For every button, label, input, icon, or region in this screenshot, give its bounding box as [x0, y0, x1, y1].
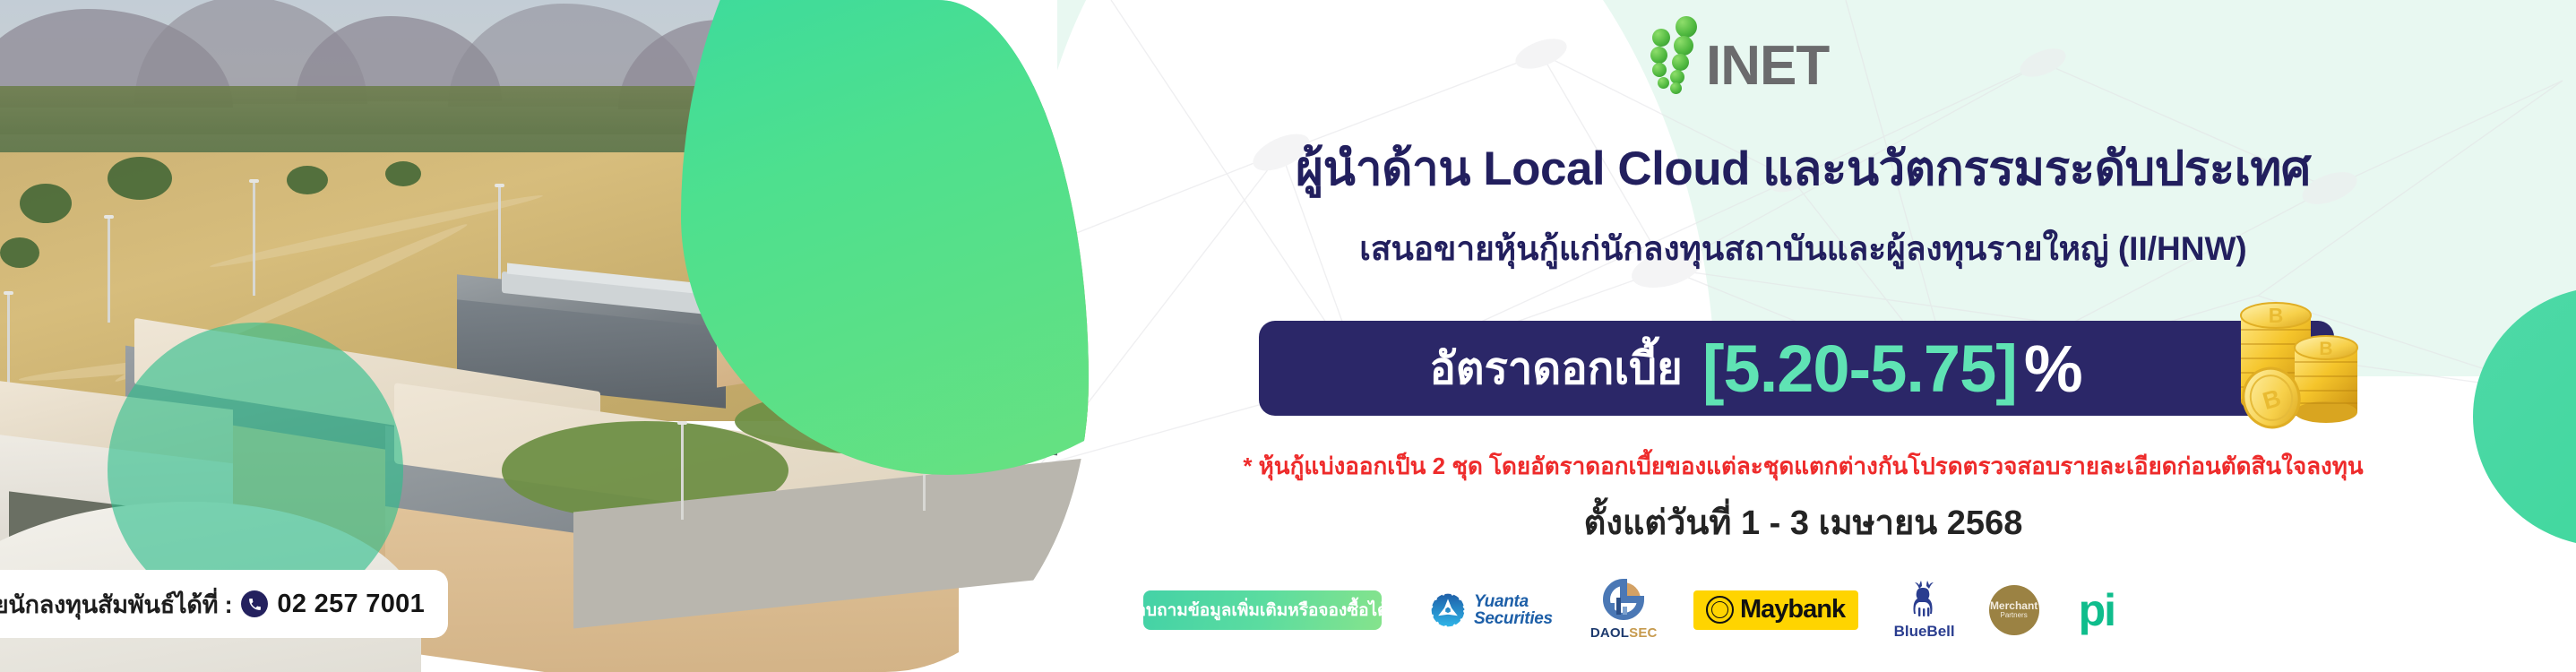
partner-logo-bluebell[interactable]: BlueBell — [1894, 580, 1955, 641]
interest-rate-value: [5.20-5.75] — [1702, 331, 2017, 407]
interest-rate-percent-sign: % — [2024, 331, 2083, 407]
merchant-line1: Merchant — [1990, 600, 2038, 612]
bluebell-wordmark: BlueBell — [1894, 623, 1955, 641]
contact-phone-number: 02 257 7001 — [277, 590, 425, 619]
maybank-tiger-icon — [1706, 596, 1734, 624]
partner-logo-maybank[interactable]: Maybank — [1693, 590, 1858, 630]
page-title: ผู้นำด้าน Local Cloud และนวัตกรรมระดับปร… — [1030, 131, 2576, 206]
yuanta-line1: Yuanta — [1474, 593, 1553, 610]
investor-relations-contact-bar[interactable]: ติดต่อฝ่ายนักลงทุนสัมพันธ์ได้ที่ : 02 25… — [0, 570, 448, 638]
bluebell-deer-icon — [1905, 580, 1944, 617]
photo-tree — [385, 161, 421, 186]
svg-text:B: B — [2319, 339, 2332, 359]
daol-pie-chart-icon — [1602, 579, 1645, 620]
yuanta-line2: Securities — [1474, 610, 1553, 627]
cta-label: สอบถามข้อมูลเพิ่มเติมหรือจองซื้อได้ที่ — [1125, 597, 1400, 624]
pi-wordmark: pi — [2079, 592, 2115, 628]
daol-line2: SEC — [1629, 625, 1657, 641]
disclaimer-text: * หุ้นกู้แบ่งออกเป็น 2 ชุด โดยอัตราดอกเบ… — [1030, 448, 2576, 485]
inet-bond-offering-banner: ติดต่อฝ่ายนักลงทุนสัมพันธ์ได้ที่ : 02 25… — [0, 0, 2576, 672]
svg-text:B: B — [2269, 304, 2284, 327]
maybank-wordmark: Maybank — [1740, 595, 1845, 625]
partner-logo-yuanta[interactable]: Yuanta Securities — [1430, 592, 1553, 628]
page-subtitle: เสนอขายหุ้นกู้แก่นักลงทุนสถาบันและผู้ลงท… — [1030, 222, 2576, 275]
partner-logo-daol-sec[interactable]: DAOLSEC — [1590, 579, 1658, 641]
gold-coin-stack-icon: B B B — [2225, 289, 2386, 441]
photo-pole — [108, 215, 110, 323]
photo-tree — [20, 184, 72, 223]
photo-pole — [498, 184, 501, 282]
partner-logo-row: สอบถามข้อมูลเพิ่มเติมหรือจองซื้อได้ที่ — [1143, 579, 2115, 641]
photo-lightpole — [681, 421, 684, 520]
content-column: INET ผู้นำด้าน Local Cloud และนวัตกรรมระ… — [1030, 0, 2576, 672]
interest-rate-label: อัตราดอกเบี้ย — [1429, 333, 1683, 403]
interest-rate-badge: อัตราดอกเบี้ย [5.20-5.75] % — [1259, 321, 2334, 416]
photo-tree — [287, 166, 328, 194]
partner-logo-merchant-partners[interactable]: Merchant Partners — [1989, 585, 2039, 635]
daol-line1: DAOL — [1590, 625, 1629, 641]
partner-logo-pi[interactable]: pi — [2079, 592, 2115, 628]
merchant-line2: Partners — [2000, 612, 2027, 619]
photo-tree — [0, 237, 39, 268]
inet-green-dots-logo — [1649, 14, 1701, 90]
yuanta-star-icon — [1430, 592, 1466, 628]
photo-tree — [108, 157, 172, 200]
cta-inquiry-button[interactable]: สอบถามข้อมูลเพิ่มเติมหรือจองซื้อได้ที่ — [1143, 590, 1382, 630]
inet-logo-text: INET — [1706, 44, 1829, 90]
inet-logo: INET — [1649, 14, 1829, 90]
contact-label: ติดต่อฝ่ายนักลงทุนสัมพันธ์ได้ที่ : — [0, 585, 232, 624]
photo-pole — [253, 179, 255, 296]
phone-icon — [241, 590, 268, 617]
offering-dates: ตั้งแต่วันที่ 1 - 3 เมษายน 2568 — [1030, 495, 2576, 549]
